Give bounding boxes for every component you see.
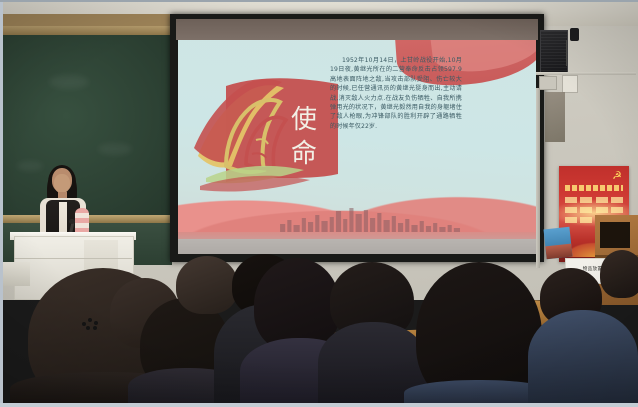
poster-cell — [565, 197, 577, 203]
wall-conduit — [536, 72, 636, 75]
poster-cell — [596, 207, 608, 213]
photo-border-top — [0, 0, 638, 2]
audience-shoulder — [528, 310, 638, 407]
poster-title-text — [565, 185, 623, 191]
wall-dark-panel — [545, 92, 565, 142]
poster-cell — [565, 207, 577, 213]
hair-clip — [82, 318, 102, 330]
svg-text:命: 命 — [291, 139, 317, 169]
small-wall-artwork — [544, 227, 573, 260]
poster-cell — [596, 197, 608, 203]
audience-head — [176, 256, 238, 314]
projected-slide: 使 命 1952年10月14日，上甘岭战役开始,10月19日夜,黄继光所在的二营… — [178, 40, 536, 254]
slide-paragraph: 1952年10月14日，上甘岭战役开始,10月19日夜,黄继光所在的二营奉命反击… — [330, 56, 462, 131]
microphone-head — [69, 219, 75, 224]
poster-row — [565, 197, 623, 203]
poster-cell — [580, 207, 592, 213]
photo-border-bottom — [0, 403, 638, 407]
slide-ground — [178, 239, 536, 254]
speaker-bracket — [570, 28, 579, 41]
cabinet-opening — [600, 222, 630, 248]
classroom-photo: 使 命 1952年10月14日，上甘岭战役开始,10月19日夜,黄继光所在的二营… — [0, 0, 638, 407]
slide-body-text: 1952年10月14日，上甘岭战役开始,10月19日夜,黄继光所在的二营奉命反击… — [330, 56, 462, 131]
poster-cell — [580, 197, 592, 203]
hammer-sickle-icon: ☭ — [610, 170, 624, 182]
poster-cell — [580, 217, 592, 223]
poster-cell — [565, 217, 577, 223]
wall-switch-box[interactable] — [562, 75, 578, 93]
chalkboard-trim-top — [0, 26, 172, 35]
presenter-face — [54, 174, 70, 193]
wall-outlet[interactable] — [539, 76, 557, 90]
artwork-lower-band — [545, 243, 572, 259]
projection-screen-top-band — [176, 19, 538, 40]
lectern-edge — [14, 258, 132, 259]
poster-cell — [611, 197, 623, 203]
speaker-grill — [541, 31, 567, 73]
slide-city-skyline — [278, 206, 464, 232]
wall-speaker — [540, 30, 568, 74]
wall-pipe — [536, 88, 540, 268]
photo-border-left — [0, 0, 3, 407]
poster-row — [565, 207, 623, 213]
svg-text:使: 使 — [291, 105, 317, 135]
speaker-cable — [566, 40, 567, 66]
poster-cell — [611, 207, 623, 213]
side-desk — [0, 262, 30, 286]
audience-head — [600, 250, 638, 298]
mission-flag-logo: 使 命 — [192, 70, 342, 198]
